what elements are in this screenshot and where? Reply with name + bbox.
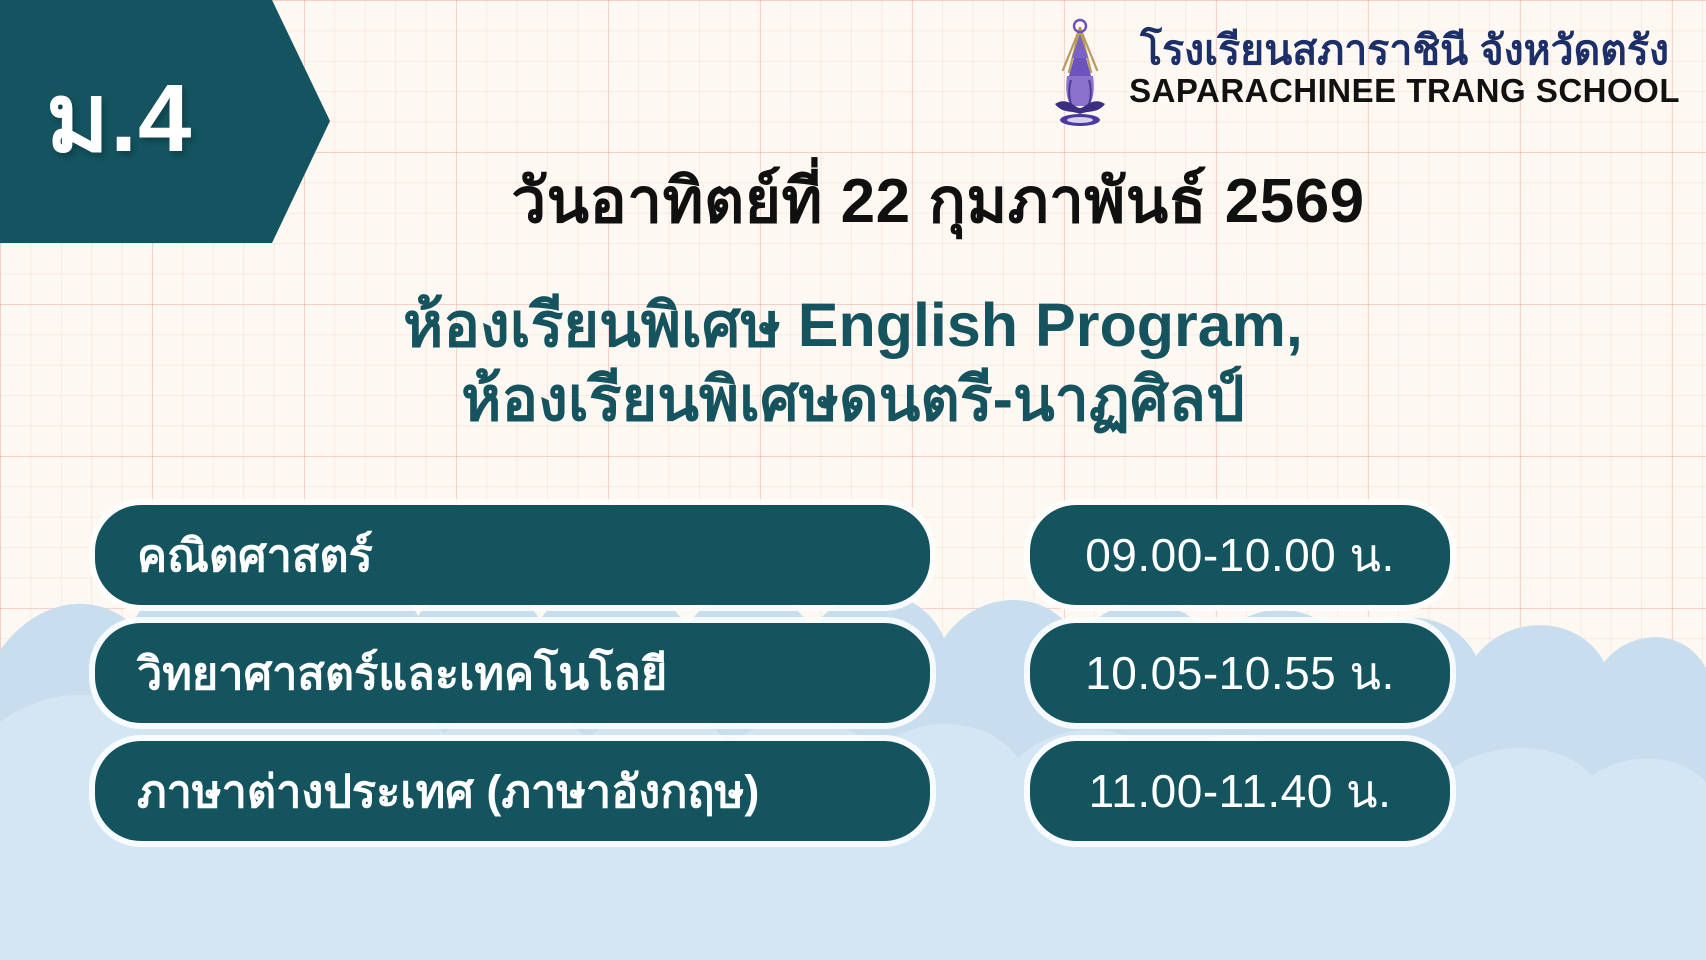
program-subtitle-line-1: ห้องเรียนพิเศษ English Program, [0, 288, 1706, 362]
subject-pill: ภาษาต่างประเทศ (ภาษาอังกฤษ) [95, 741, 930, 841]
subject-label: ภาษาต่างประเทศ (ภาษาอังกฤษ) [137, 755, 759, 827]
subject-pill: วิทยาศาสตร์และเทคโนโลยี [95, 623, 930, 723]
school-brand: โรงเรียนสภาราชินี จังหวัดตรัง SAPARACHIN… [1045, 10, 1680, 128]
schedule-row: ภาษาต่างประเทศ (ภาษาอังกฤษ) 11.00-11.40 … [95, 741, 1611, 841]
program-subtitle-line-2: ห้องเรียนพิเศษดนตรี-นาฏศิลป์ [0, 362, 1706, 436]
poster-canvas: ม.4 โรงเรียนสภาราชินี จังหวัดตรัง [0, 0, 1706, 960]
time-label: 10.05-10.55 น. [1085, 637, 1395, 710]
date-heading: วันอาทิตย์ที่ 22 กุมภาพันธ์ 2569 [0, 152, 1706, 250]
time-label: 09.00-10.00 น. [1085, 519, 1395, 592]
subject-pill: คณิตศาสตร์ [95, 505, 930, 605]
schedule-list: คณิตศาสตร์ 09.00-10.00 น. วิทยาศาสตร์และ… [95, 505, 1611, 841]
time-pill: 11.00-11.40 น. [1030, 741, 1450, 841]
subject-label: คณิตศาสตร์ [137, 519, 373, 591]
school-name-english: SAPARACHINEE TRANG SCHOOL [1129, 74, 1680, 108]
schedule-row: คณิตศาสตร์ 09.00-10.00 น. [95, 505, 1611, 605]
time-pill: 10.05-10.55 น. [1030, 623, 1450, 723]
schedule-row: วิทยาศาสตร์และเทคโนโลยี 10.05-10.55 น. [95, 623, 1611, 723]
program-subtitle: ห้องเรียนพิเศษ English Program, ห้องเรีย… [0, 288, 1706, 437]
royal-crown-emblem-icon [1045, 10, 1115, 128]
time-pill: 09.00-10.00 น. [1030, 505, 1450, 605]
subject-label: วิทยาศาสตร์และเทคโนโลยี [137, 637, 667, 709]
school-name-thai: โรงเรียนสภาราชินี จังหวัดตรัง [1140, 30, 1669, 72]
time-label: 11.00-11.40 น. [1089, 755, 1392, 828]
